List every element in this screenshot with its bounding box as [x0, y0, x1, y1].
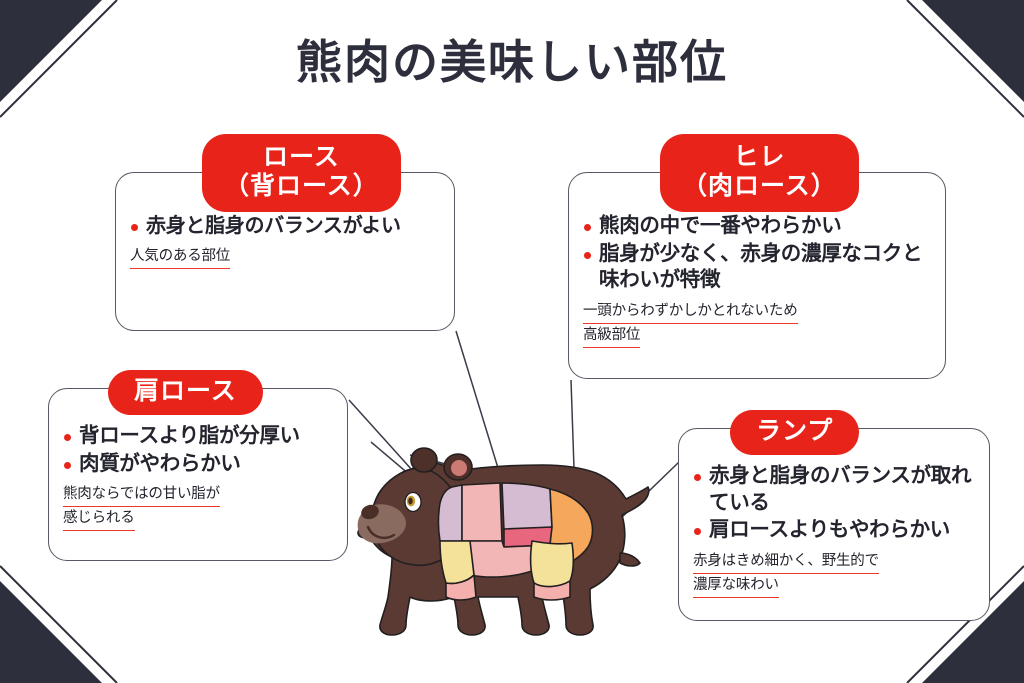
note-line: 赤身はきめ細かく、野生的で — [693, 550, 879, 574]
bullet-text: 背ロースより脂が分厚い — [79, 425, 300, 447]
bear-tail — [620, 553, 640, 566]
corner-triangle-icon-bottom-left — [0, 565, 118, 683]
bullet-text: 熊肉の中で一番やわらかい — [599, 215, 841, 237]
bullet-text: 肉質がやわらかい — [79, 453, 241, 475]
list-item: 熊肉の中で一番やわらかい — [583, 213, 931, 240]
badge-line-1: 肩ロース — [134, 377, 237, 406]
badge-line-2: （背ロース） — [224, 172, 379, 201]
note-shoulder-roast: 熊肉ならではの甘い脂が 感じられる — [63, 483, 333, 531]
card-rump: 赤身と脂身のバランスが取れている 肩ロースよりもやわらかい 赤身はきめ細かく、野… — [678, 428, 990, 621]
note-line: 一頭からわずかしかとれないため — [583, 300, 798, 324]
bullet-list-roast: 赤身と脂身のバランスがよい — [130, 213, 440, 239]
badge-rump[interactable]: ランプ — [730, 410, 859, 455]
badge-roast[interactable]: ロース （背ロース） — [202, 134, 401, 212]
badge-line-1: ヒレ — [682, 143, 837, 172]
infographic-canvas: 熊肉の美味しい部位 — [0, 0, 1024, 683]
cut-back-roast — [462, 483, 502, 541]
note-roast: 人気のある部位 — [130, 245, 440, 269]
badge-line-2: （肉ロース） — [682, 172, 837, 201]
list-item: 背ロースより脂が分厚い — [63, 423, 333, 450]
bullet-list-fillet: 熊肉の中で一番やわらかい 脂身が少なく、赤身の濃厚なコクと味わいが特徴 — [583, 213, 931, 294]
note-line: 人気のある部位 — [130, 245, 230, 269]
page-title: 熊肉の美味しい部位 — [0, 36, 1024, 90]
note-line: 熊肉ならではの甘い脂が — [63, 483, 220, 507]
note-line: 濃厚な味わい — [693, 574, 779, 598]
bear-cuts-diagram-icon — [352, 441, 664, 641]
list-item: 脂身が少なく、赤身の濃厚なコクと味わいが特徴 — [583, 241, 931, 294]
note-line: 高級部位 — [583, 324, 640, 348]
badge-line-1: ロース — [224, 143, 379, 172]
badge-fillet[interactable]: ヒレ （肉ロース） — [660, 134, 859, 212]
cut-loin — [502, 483, 552, 531]
list-item: 赤身と脂身のバランスが取れている — [693, 463, 975, 516]
bullet-list-rump: 赤身と脂身のバランスが取れている 肩ロースよりもやわらかい — [693, 463, 975, 544]
note-rump: 赤身はきめ細かく、野生的で 濃厚な味わい — [693, 550, 975, 598]
badge-shoulder-roast[interactable]: 肩ロース — [108, 370, 263, 415]
badge-line-1: ランプ — [756, 417, 833, 446]
bullet-text: 肩ロースよりもやわらかい — [709, 519, 950, 541]
cut-front-shank — [440, 541, 474, 584]
list-item: 赤身と脂身のバランスがよい — [130, 213, 440, 239]
note-line: 感じられる — [63, 507, 135, 531]
note-fillet: 一頭からわずかしかとれないため 高級部位 — [583, 300, 931, 348]
bullet-text: 赤身と脂身のバランスが取れている — [709, 465, 971, 514]
bullet-text: 脂身が少なく、赤身の濃厚なコクと味わいが特徴 — [599, 243, 922, 292]
bullet-text: 赤身と脂身のバランスがよい — [146, 215, 401, 237]
cut-rear-shank — [531, 541, 574, 587]
list-item: 肩ロースよりもやわらかい — [693, 517, 975, 544]
list-item: 肉質がやわらかい — [63, 451, 333, 478]
bear-ear-left — [411, 448, 437, 472]
bullet-list-shoulder-roast: 背ロースより脂が分厚い 肉質がやわらかい — [63, 423, 333, 477]
